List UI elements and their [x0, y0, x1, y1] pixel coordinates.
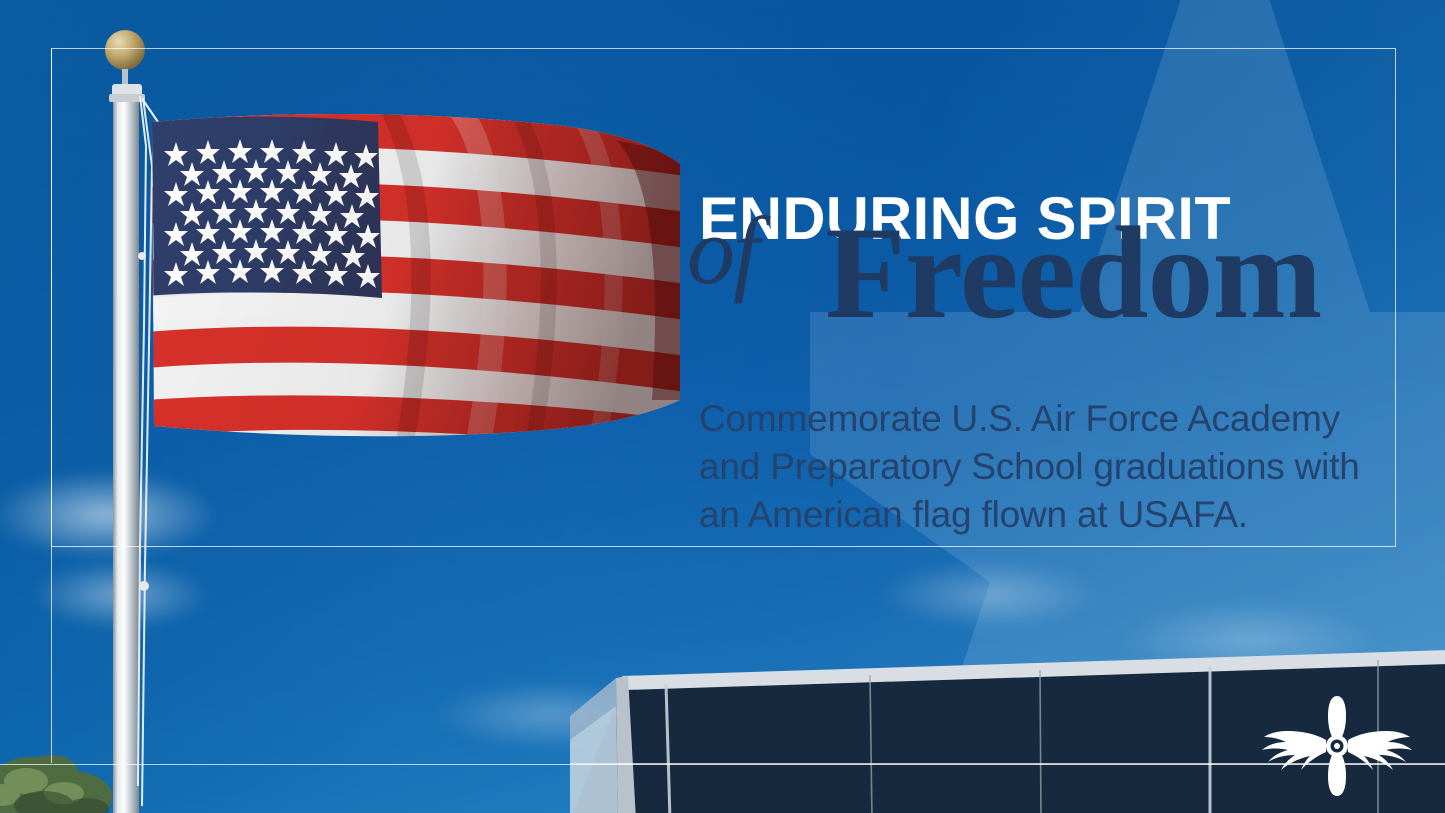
- serif-word-freedom: Freedom: [825, 207, 1321, 339]
- text-block: ENDURING SPIRIT of Freedom Commemorate U…: [699, 190, 1399, 539]
- body-copy: Commemorate U.S. Air Force Academy and P…: [699, 377, 1389, 539]
- winged-propeller-emblem: [1258, 690, 1416, 802]
- promotional-banner: ENDURING SPIRIT of Freedom Commemorate U…: [0, 0, 1445, 813]
- american-flag: [146, 100, 686, 455]
- gold-finial-ball: [105, 30, 145, 70]
- script-word-of: of: [687, 203, 758, 299]
- title-script-line: of Freedom: [699, 245, 1399, 377]
